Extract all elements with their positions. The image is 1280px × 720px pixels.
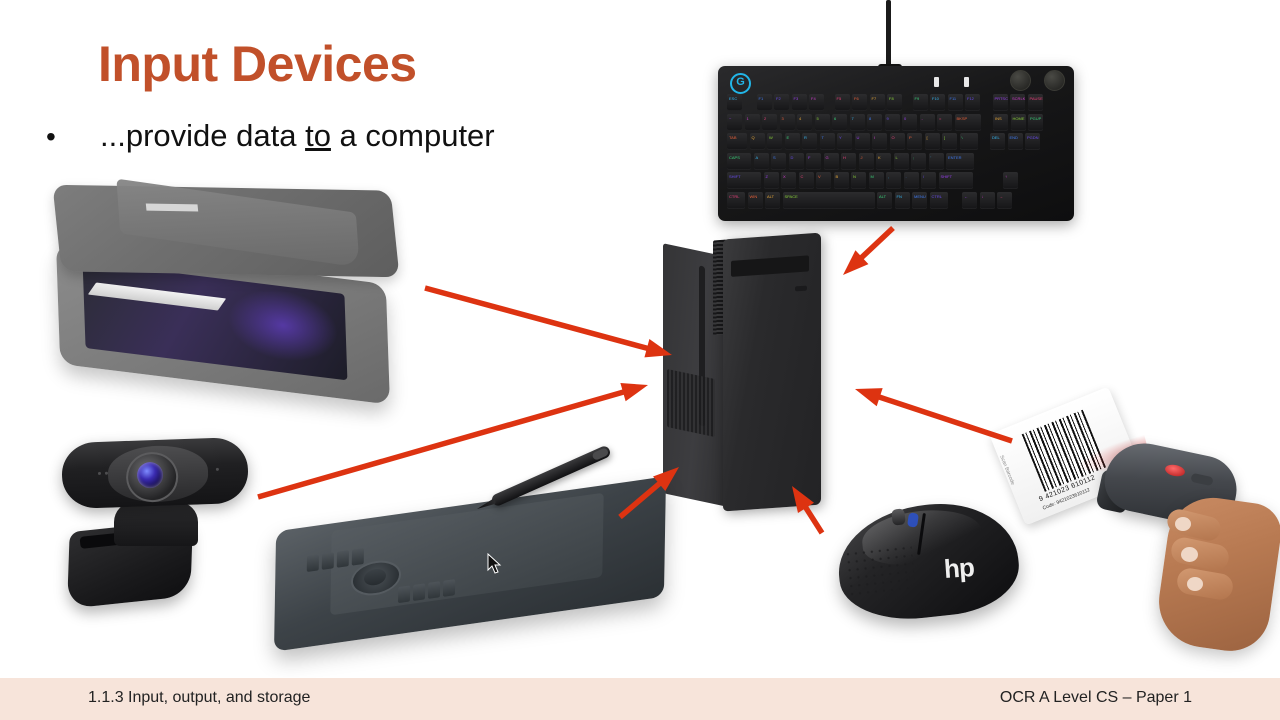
arrow-head-webcam	[620, 383, 648, 401]
keyboard-key-label: SHIFT	[941, 174, 953, 179]
keyboard-key-r[interactable]: R	[802, 133, 817, 150]
keyboard-key-label: F9	[915, 96, 920, 101]
keyboard-row-4: CAPSASDFGHJKL;'ENTER	[727, 153, 1043, 170]
keyboard-key-label: F6	[854, 96, 859, 101]
keyboard-key-label: 9	[887, 116, 889, 121]
keyboard-key--[interactable]: ←	[962, 192, 977, 209]
keyboard-key-ins[interactable]: INS	[993, 114, 1008, 131]
keyboard-key-win[interactable]: WIN	[748, 192, 763, 209]
keyboard-image: G ESCF1F2F3F4F5F6F7F8F9F10F11F12PRTSCSCR…	[700, 0, 1090, 230]
keyboard-indicator-led-2	[964, 77, 969, 87]
keyboard-key-label: F	[808, 155, 810, 160]
keyboard-key-label: Z	[766, 174, 768, 179]
keyboard-key-label: →	[999, 194, 1003, 199]
barcode-side-text: Scan Barcode	[998, 455, 1015, 486]
bullet-text-after: a computer	[331, 118, 495, 153]
keyboard-key-label: .	[906, 174, 907, 179]
webcam-mic-left-2	[105, 472, 108, 475]
keyboard-key-label: U	[857, 135, 860, 140]
tablet-express-key-bottom-3[interactable]	[428, 581, 440, 599]
desktop-pc-tower-image	[655, 228, 855, 513]
tablet-express-key-top-2[interactable]	[322, 552, 334, 570]
keyboard-key-c[interactable]: C	[799, 172, 814, 189]
keyboard-key-f5[interactable]: F5	[835, 94, 850, 111]
footer-left-text: 1.1.3 Input, output, and storage	[88, 689, 310, 707]
keyboard-key-n[interactable]: N	[851, 172, 866, 189]
keyboard-key-label: PGUP	[1030, 116, 1041, 121]
page-title: Input Devices	[98, 38, 417, 91]
keyboard-key-label: ]	[944, 135, 945, 140]
hand-nail-1	[1175, 517, 1191, 531]
keyboard-key-label: FN	[897, 194, 902, 199]
keyboard-key-b[interactable]: B	[834, 172, 849, 189]
keyboard-row-5: SHIFTZXCVBNM,./SHIFT↑	[727, 172, 1043, 189]
webcam-body	[61, 437, 249, 509]
keyboard-key-o[interactable]: O	[890, 133, 905, 150]
keyboard-key-label: 7	[852, 116, 854, 121]
tablet-express-key-bottom-1[interactable]	[398, 585, 410, 603]
keyboard-row-3: TABQWERTYUIOP[]\DELENDPGDN	[727, 133, 1043, 150]
keyboard-key-label: BKSP	[957, 116, 968, 121]
keyboard-key-s[interactable]: S	[771, 153, 786, 170]
webcam-mic-right	[216, 468, 219, 471]
keyboard-key-label: ~	[729, 116, 731, 121]
keyboard-key-bksp[interactable]: BKSP	[955, 114, 981, 131]
hand-nail-2	[1181, 547, 1198, 562]
keyboard-key-label: E	[787, 135, 790, 140]
keyboard-brand-logo: G	[730, 73, 751, 94]
keyboard-key-2[interactable]: 2	[762, 114, 777, 131]
keyboard-key-8[interactable]: 8	[867, 114, 882, 131]
keyboard-key-h[interactable]: H	[841, 153, 856, 170]
keyboard-key-space[interactable]: SPACE	[783, 192, 875, 209]
keyboard-key-label: ←	[964, 194, 968, 199]
keyboard-key-label: PAUSE	[1030, 96, 1043, 101]
keyboard-row-6: CTRLWINALTSPACEALTFNMENUCTRL←↓→	[727, 192, 1043, 209]
keyboard-key-label: 6	[834, 116, 836, 121]
keyboard-key-3[interactable]: 3	[780, 114, 795, 131]
keyboard-key-label: F12	[967, 96, 974, 101]
keyboard-key-label: ALT	[879, 194, 886, 199]
keyboard-row-1: ESCF1F2F3F4F5F6F7F8F9F10F11F12PRTSCSCRLK…	[727, 94, 1043, 111]
keyboard-key-pause[interactable]: PAUSE	[1028, 94, 1043, 111]
keyboard-key-shift[interactable]: SHIFT	[939, 172, 973, 189]
keyboard-key--[interactable]: ~	[727, 114, 742, 131]
keyboard-key-l[interactable]: L	[894, 153, 909, 170]
keyboard-key-k[interactable]: K	[876, 153, 891, 170]
mouse-cursor-icon	[487, 553, 503, 575]
keyboard-key-label: /	[923, 174, 924, 179]
webcam-image	[52, 430, 267, 645]
keyboard-key-tab[interactable]: TAB	[727, 133, 747, 150]
keyboard-key-label: SCRLK	[1012, 96, 1025, 101]
mouse-brand-logo: hp	[943, 552, 975, 585]
keyboard-key-label: SPACE	[785, 194, 798, 199]
keyboard-key-label: -	[922, 116, 923, 121]
keyboard-key-label: ,	[888, 174, 889, 179]
keyboard-key-label: Q	[752, 135, 755, 140]
keyboard-key-f6[interactable]: F6	[852, 94, 867, 111]
keyboard-key-label: H	[843, 155, 846, 160]
flatbed-scanner-image	[40, 178, 440, 428]
scanner-glass-glow	[227, 283, 339, 367]
keyboard-key--[interactable]: ,	[886, 172, 901, 189]
keyboard-key-i[interactable]: I	[872, 133, 887, 150]
keyboard-key-scrlk[interactable]: SCRLK	[1010, 94, 1025, 111]
keyboard-key-label: F10	[932, 96, 939, 101]
keyboard-key-label: CAPS	[729, 155, 740, 160]
keyboard-key-pgup[interactable]: PGUP	[1028, 114, 1043, 131]
keyboard-key-1[interactable]: 1	[745, 114, 760, 131]
keyboard-key-m[interactable]: M	[869, 172, 884, 189]
keyboard-key-label: HOME	[1013, 116, 1025, 121]
keyboard-key-label: F11	[950, 96, 957, 101]
keyboard-key-label: =	[939, 116, 941, 121]
keyboard-key--[interactable]: /	[921, 172, 936, 189]
arrow-head-barcode	[855, 388, 883, 406]
keyboard-key-alt[interactable]: ALT	[765, 192, 780, 209]
keyboard-key-v[interactable]: V	[816, 172, 831, 189]
keyboard-key-e[interactable]: E	[785, 133, 800, 150]
keyboard-key-label: D	[791, 155, 794, 160]
keyboard-key-fn[interactable]: FN	[895, 192, 910, 209]
bullet-text-before: ...provide data	[100, 118, 305, 153]
keyboard-key-esc[interactable]: ESC	[727, 94, 742, 111]
keyboard-key-label: K	[878, 155, 881, 160]
keyboard-key--[interactable]: '	[929, 153, 944, 170]
keyboard-key-label: F5	[837, 96, 842, 101]
keyboard-key--[interactable]: \	[960, 133, 978, 150]
keyboard-key-f12[interactable]: F12	[965, 94, 980, 111]
keyboard-key-label: F1	[759, 96, 764, 101]
tablet-express-key-top-3[interactable]	[337, 550, 349, 568]
keyboard-key-label: F7	[872, 96, 877, 101]
keyboard-key-label: ALT	[767, 194, 774, 199]
keyboard-key-5[interactable]: 5	[815, 114, 830, 131]
keyboard-key-f10[interactable]: F10	[930, 94, 945, 111]
keyboard-key-label: ↑	[1005, 174, 1007, 179]
keyboard-key-label: 0	[904, 116, 906, 121]
keyboard-key-label: ↓	[982, 194, 984, 199]
mouse-side-grip	[844, 544, 917, 601]
keyboard-key-f8[interactable]: F8	[887, 94, 902, 111]
keyboard-indicator-led-1	[934, 77, 939, 87]
tower-front-panel	[723, 233, 821, 512]
keyboard-key--[interactable]: -	[920, 114, 935, 131]
bullet-text-underlined: to	[305, 118, 331, 153]
keyboard-key-label: O	[892, 135, 895, 140]
keyboard-key-label: Y	[839, 135, 842, 140]
keyboard-key-4[interactable]: 4	[797, 114, 812, 131]
keyboard-key-label: A	[756, 155, 759, 160]
bullet-text: ...provide data to a computer	[100, 118, 495, 154]
keyboard-key-end[interactable]: END	[1008, 133, 1023, 150]
keyboard-key-j[interactable]: J	[859, 153, 874, 170]
keyboard-key-t[interactable]: T	[820, 133, 835, 150]
keyboard-key-label: M	[871, 174, 874, 179]
keyboard-key--[interactable]: ]	[942, 133, 957, 150]
keyboard-key-label: S	[773, 155, 776, 160]
keyboard-game-mode-knob	[1044, 70, 1065, 91]
keyboard-key-label: F2	[776, 96, 781, 101]
keyboard-key-label: END	[1010, 135, 1018, 140]
keyboard-key-x[interactable]: X	[781, 172, 796, 189]
tablet-express-key-top-1[interactable]	[307, 554, 319, 572]
keyboard-key-label: N	[853, 174, 856, 179]
keyboard-key-f2[interactable]: F2	[774, 94, 789, 111]
keyboard-key-label: R	[804, 135, 807, 140]
keyboard-cable	[886, 0, 891, 72]
keyboard-key-0[interactable]: 0	[902, 114, 917, 131]
keyboard-body: G ESCF1F2F3F4F5F6F7F8F9F10F11F12PRTSCSCR…	[718, 66, 1074, 221]
keyboard-key-f11[interactable]: F11	[948, 94, 963, 111]
keyboard-key-p[interactable]: P	[907, 133, 922, 150]
webcam-clip-top	[114, 502, 198, 546]
keyboard-key-y[interactable]: Y	[837, 133, 852, 150]
keyboard-key-6[interactable]: 6	[832, 114, 847, 131]
keyboard-key-label: 3	[782, 116, 784, 121]
keyboard-key-d[interactable]: D	[789, 153, 804, 170]
keyboard-key-label: J	[861, 155, 863, 160]
tablet-express-key-top-4[interactable]	[352, 548, 364, 566]
keyboard-key-prtsc[interactable]: PRTSC	[993, 94, 1008, 111]
keyboard-key-label: F8	[889, 96, 894, 101]
hand-nail-3	[1187, 577, 1203, 591]
keyboard-key--[interactable]: ↑	[1003, 172, 1018, 189]
keyboard-key-label: ESC	[729, 96, 737, 101]
keyboard-key-f3[interactable]: F3	[792, 94, 807, 111]
keyboard-key-label: \	[962, 135, 963, 140]
bullet-marker: •	[46, 123, 100, 151]
keyboard-key-label: '	[931, 155, 932, 160]
graphics-tablet-image	[265, 460, 680, 650]
keyboard-key-ctrl[interactable]: CTRL	[930, 192, 948, 209]
keyboard-row-2: ~1234567890-=BKSPINSHOMEPGUP	[727, 114, 1043, 131]
tablet-express-key-bottom-2[interactable]	[413, 583, 425, 601]
keyboard-key--[interactable]: [	[925, 133, 940, 150]
keyboard-key-f4[interactable]: F4	[809, 94, 824, 111]
keyboard-key-label: X	[783, 174, 786, 179]
keyboard-key-label: CTRL	[729, 194, 739, 199]
keyboard-key-label: SHIFT	[729, 174, 741, 179]
keyboard-key-a[interactable]: A	[754, 153, 769, 170]
keyboard-key-label: 4	[799, 116, 801, 121]
keyboard-key-label: P	[909, 135, 912, 140]
keyboard-key-label: W	[769, 135, 773, 140]
scanner-lid-strip	[146, 204, 198, 212]
keyboard-key-label: T	[822, 135, 824, 140]
tower-side-vents	[667, 369, 715, 437]
keyboard-key-label: MENU	[914, 194, 926, 199]
keyboard-key-label: WIN	[750, 194, 758, 199]
keyboard-key-9[interactable]: 9	[885, 114, 900, 131]
keyboard-key--[interactable]: →	[997, 192, 1012, 209]
keyboard-key--[interactable]: ↓	[980, 192, 995, 209]
bullet-point: • ...provide data to a computer	[46, 118, 495, 154]
keyboard-key-shift[interactable]: SHIFT	[727, 172, 761, 189]
keyboard-key-label: CTRL	[932, 194, 942, 199]
keyboard-key-label: G	[826, 155, 829, 160]
keyboard-key-label: TAB	[729, 135, 736, 140]
keyboard-key-q[interactable]: Q	[750, 133, 765, 150]
keyboard-key-g[interactable]: G	[824, 153, 839, 170]
keyboard-key--[interactable]: =	[937, 114, 952, 131]
keyboard-key-7[interactable]: 7	[850, 114, 865, 131]
barcode-scanner-image: 9 421023 610112 Code: 9421023610112 Scan…	[995, 395, 1280, 680]
webcam-mic-left-1	[98, 472, 101, 475]
keyboard-key-menu[interactable]: MENU	[912, 192, 927, 209]
keyboard-key-label: C	[801, 174, 804, 179]
footer-right-text: OCR A Level CS – Paper 1	[1000, 689, 1192, 707]
tablet-express-key-bottom-4[interactable]	[443, 579, 455, 597]
slide-canvas: Input Devices • ...provide data to a com…	[0, 0, 1280, 720]
keyboard-key-f[interactable]: F	[806, 153, 821, 170]
keyboard-key-pgdn[interactable]: PGDN	[1025, 133, 1040, 150]
keyboard-key-label: 5	[817, 116, 819, 121]
keyboard-key-label: 2	[764, 116, 766, 121]
keyboard-key-label: B	[836, 174, 839, 179]
keyboard-key-u[interactable]: U	[855, 133, 870, 150]
keyboard-key-label: F4	[811, 96, 816, 101]
keyboard-key-label: ENTER	[948, 155, 962, 160]
arrow-shaft-keyboard	[858, 228, 893, 261]
keyboard-keys: ESCF1F2F3F4F5F6F7F8F9F10F11F12PRTSCSCRLK…	[727, 94, 1043, 211]
keyboard-key-enter[interactable]: ENTER	[946, 153, 974, 170]
footer-bar: 1.1.3 Input, output, and storage OCR A L…	[0, 678, 1280, 720]
keyboard-key-label: PGDN	[1027, 135, 1039, 140]
keyboard-key-ctrl[interactable]: CTRL	[727, 192, 745, 209]
keyboard-key-label: ;	[913, 155, 914, 160]
keyboard-brightness-knob	[1010, 70, 1031, 91]
keyboard-key-f7[interactable]: F7	[870, 94, 885, 111]
arrow-shaft-scanner	[425, 288, 653, 350]
keyboard-key-label: V	[818, 174, 821, 179]
mouse-scroll-wheel	[891, 508, 906, 525]
keyboard-key-label: DEL	[992, 135, 1000, 140]
keyboard-key-f1[interactable]: F1	[757, 94, 772, 111]
keyboard-key-alt[interactable]: ALT	[877, 192, 892, 209]
keyboard-key-w[interactable]: W	[767, 133, 782, 150]
keyboard-key--[interactable]: ;	[911, 153, 926, 170]
keyboard-key-caps[interactable]: CAPS	[727, 153, 751, 170]
keyboard-key-home[interactable]: HOME	[1011, 114, 1026, 131]
keyboard-key-f9[interactable]: F9	[913, 94, 928, 111]
keyboard-key-label: L	[896, 155, 898, 160]
keyboard-key--[interactable]: .	[904, 172, 919, 189]
keyboard-key-z[interactable]: Z	[764, 172, 779, 189]
keyboard-key-label: 1	[747, 116, 749, 121]
keyboard-key-label: [	[927, 135, 928, 140]
keyboard-key-label: PRTSC	[995, 96, 1008, 101]
keyboard-key-label: 8	[869, 116, 871, 121]
keyboard-key-label: F3	[794, 96, 799, 101]
keyboard-key-label: I	[874, 135, 875, 140]
keyboard-key-del[interactable]: DEL	[990, 133, 1005, 150]
keyboard-key-label: INS	[995, 116, 1002, 121]
